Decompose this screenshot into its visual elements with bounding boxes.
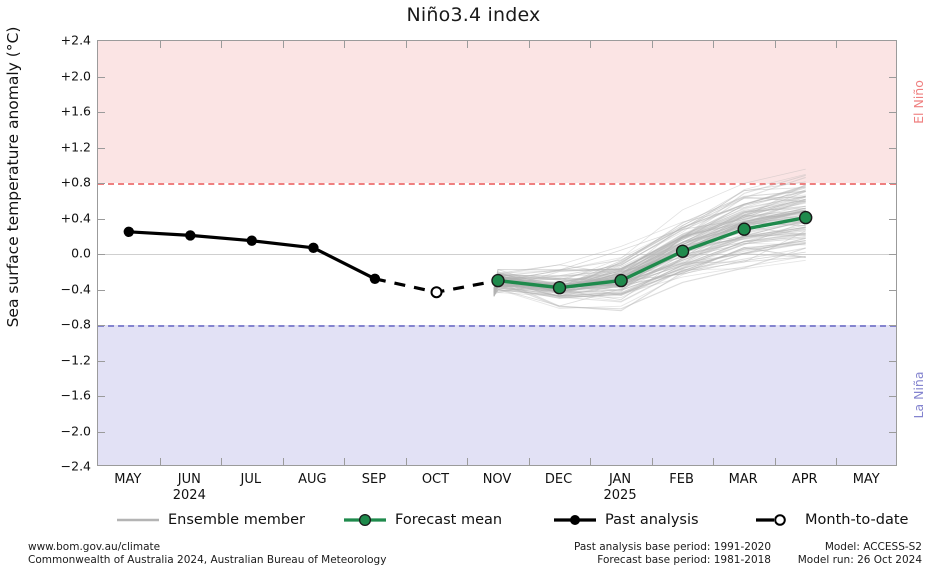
black-line-marker-icon	[552, 512, 598, 528]
footer-model-info: Model: ACCESS-S2 Model run: 26 Oct 2024	[790, 541, 922, 567]
footer-website: www.bom.gov.au/climate	[28, 541, 386, 554]
y-tick-label: +2.4	[45, 33, 91, 48]
chart-page: Niño3.4 index Sea surface temperature an…	[0, 0, 947, 568]
y-tick-label: +0.4	[45, 210, 91, 225]
footer-model: Model: ACCESS-S2	[790, 541, 922, 554]
x-tick-label: MAY	[826, 472, 906, 487]
forecast-mean-point	[800, 212, 812, 224]
forecast-mean-point	[492, 275, 504, 287]
past-analysis-point	[185, 230, 195, 240]
ensemble-members	[494, 169, 806, 311]
footer-forecast-base-period: Forecast base period: 1981-2018	[556, 554, 771, 567]
footer-model-run: Model run: 26 Oct 2024	[790, 554, 922, 567]
month-to-date-point	[432, 287, 442, 297]
footer-past-base-period: Past analysis base period: 1991-2020	[556, 541, 771, 554]
legend-label: Past analysis	[605, 512, 699, 528]
legend-label: Ensemble member	[168, 512, 305, 528]
forecast-mean-point	[677, 245, 689, 257]
el-nino-side-label: El Niño	[911, 80, 926, 124]
legend-label: Month-to-date	[805, 512, 908, 528]
legend-item[interactable]: Past analysis	[552, 506, 699, 534]
y-tick-label: +2.0	[45, 68, 91, 83]
past-analysis-point	[124, 227, 134, 237]
forecast-mean-point	[554, 282, 566, 294]
legend-item[interactable]: Month-to-date	[752, 506, 908, 534]
y-tick-label: −0.4	[45, 281, 91, 296]
green-line-marker-icon	[342, 512, 388, 528]
legend-label: Forecast mean	[395, 512, 502, 528]
y-tick-label: −1.6	[45, 388, 91, 403]
x-tick-year-label: 2025	[580, 488, 660, 503]
plot-area	[97, 40, 897, 466]
legend: Ensemble memberForecast meanPast analysi…	[97, 506, 897, 534]
la-nina-side-label: La Niña	[911, 371, 926, 418]
legend-item[interactable]: Forecast mean	[342, 506, 502, 534]
series-layer	[98, 41, 897, 466]
y-tick-label: −2.0	[45, 423, 91, 438]
footer-attribution: www.bom.gov.au/climate Commonwealth of A…	[28, 541, 386, 567]
y-tick-label: 0.0	[45, 246, 91, 261]
y-tick-label: +0.8	[45, 175, 91, 190]
y-tick-label: +1.2	[45, 139, 91, 154]
y-tick-label: −0.8	[45, 317, 91, 332]
ensemble-member-line	[494, 191, 806, 294]
page-title: Niño3.4 index	[0, 4, 947, 26]
past-analysis-series	[124, 227, 380, 284]
y-axis-tick-labels: +2.4+2.0+1.6+1.2+0.8+0.40.0−0.4−0.8−1.2−…	[39, 40, 91, 466]
y-tick-label: +1.6	[45, 104, 91, 119]
y-axis-label: Sea surface temperature anomaly (°C)	[4, 12, 22, 342]
forecast-mean-point	[615, 275, 627, 287]
footer-copyright: Commonwealth of Australia 2024, Australi…	[28, 554, 386, 567]
y-tick-label: −1.2	[45, 352, 91, 367]
past-analysis-point	[247, 236, 257, 246]
forecast-mean-point	[738, 223, 750, 235]
grey-line-icon	[115, 512, 161, 528]
y-tick-label: −2.4	[45, 459, 91, 474]
black-line-open-marker-icon	[752, 512, 798, 528]
footer-base-periods: Past analysis base period: 1991-2020 For…	[556, 541, 771, 567]
legend-item[interactable]: Ensemble member	[115, 506, 305, 534]
past-analysis-point	[308, 243, 318, 253]
month-to-date-series	[375, 279, 498, 297]
x-tick-year-label: 2024	[149, 488, 229, 503]
